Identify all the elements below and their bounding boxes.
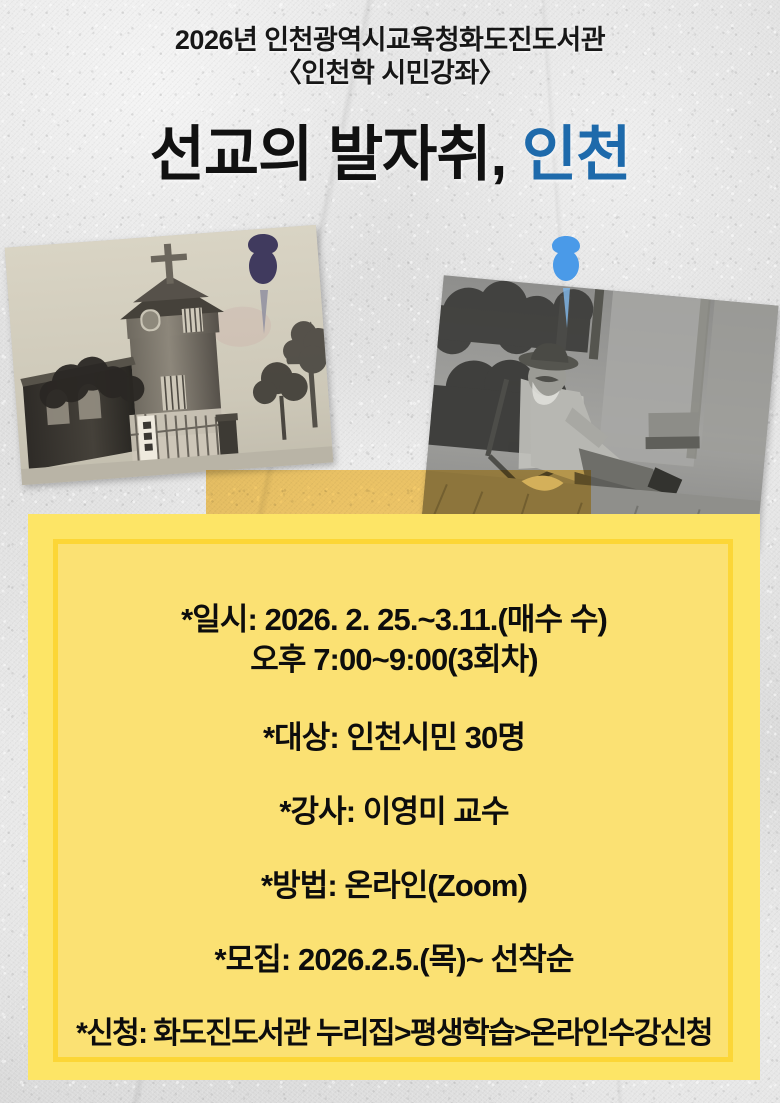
info-text-block: *일시: 2026. 2. 25.~3.11.(매수 수) 오후 7:00~9:… (28, 600, 760, 1054)
info-date-line-1: *일시: 2026. 2. 25.~3.11.(매수 수) (28, 600, 760, 640)
title-main-text: 선교의 발자취, (150, 121, 522, 188)
page-title: 선교의 발자취, 인천 (0, 118, 780, 192)
info-recruitment: *모집: 2026.2.5.(목)~ 선착순 (28, 940, 760, 980)
title-accent-text: 인천 (522, 121, 630, 188)
header-block: 2026년 인천광역시교육청화도진도서관 〈인천학 시민강좌〉 (0, 24, 780, 90)
info-instructor: *강사: 이영미 교수 (28, 792, 760, 832)
pushpin-navy-icon (232, 228, 294, 336)
info-card: *일시: 2026. 2. 25.~3.11.(매수 수) 오후 7:00~9:… (28, 514, 760, 1080)
spacer (28, 832, 760, 866)
header-line-organization: 2026년 인천광역시교육청화도진도서관 (0, 24, 780, 57)
poster-canvas: 2026년 인천광역시교육청화도진도서관 〈인천학 시민강좌〉 선교의 발자취,… (0, 0, 780, 1103)
spacer (28, 758, 760, 792)
spacer (28, 980, 760, 1014)
pushpin-blue-icon (538, 230, 594, 330)
info-date-line-2: 오후 7:00~9:00(3회차) (28, 640, 760, 680)
info-application: *신청: 화도진도서관 누리집>평생학습>온라인수강신청 (28, 1014, 760, 1054)
spacer (28, 680, 760, 718)
spacer (28, 906, 760, 940)
info-audience: *대상: 인천시민 30명 (28, 718, 760, 758)
header-line-program: 〈인천학 시민강좌〉 (0, 57, 780, 90)
info-method: *방법: 온라인(Zoom) (28, 866, 760, 906)
